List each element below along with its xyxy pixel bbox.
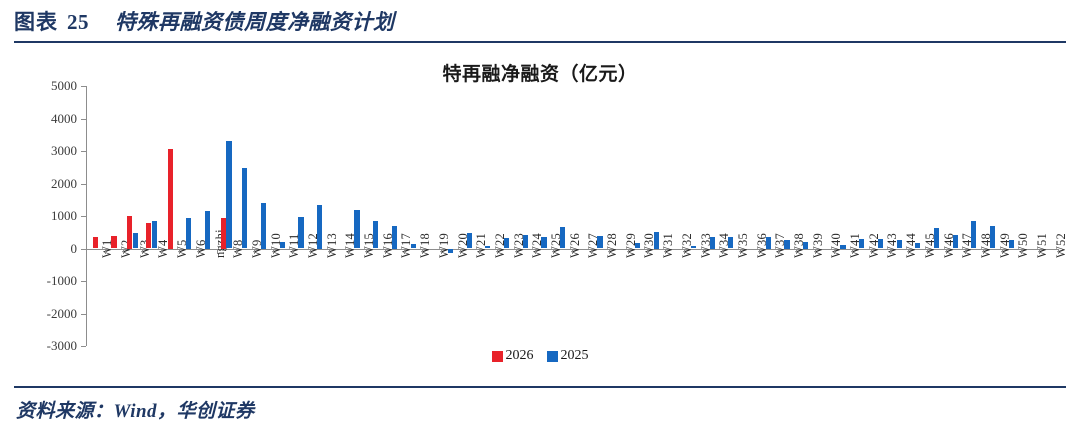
x-axis-tick [516,249,517,254]
x-axis-tick [983,249,984,254]
x-axis-tick [796,249,797,254]
bar-2025 [280,242,285,248]
y-axis-tick-label: 1000 [51,208,77,224]
x-axis-label: W51 [1035,233,1050,258]
x-axis-label: W19 [437,233,452,258]
bar-2025 [467,233,472,248]
bar-2025 [226,141,231,249]
bar-2025 [186,218,191,249]
x-axis-tick [553,249,554,254]
bar-2025 [448,249,453,253]
bar-2025 [654,232,659,248]
bar-2025 [803,242,808,249]
bar-2025 [859,239,864,248]
chart-legend: 20262025 [14,348,1066,364]
bar-2025 [317,205,322,249]
y-axis-line [86,86,87,346]
bar-2025 [242,168,247,249]
bar-2025 [152,221,157,248]
x-axis-tick [871,249,872,254]
figure-header: 图表 25 特殊再融资债周度净融资计划 [0,0,1080,48]
y-axis-tick-label: 3000 [51,143,77,159]
chart-container: 特再融净融资（亿元） 500040003000200010000-1000-20… [14,50,1066,382]
x-axis-tick [852,249,853,254]
bar-2025 [523,235,528,249]
x-axis-tick [834,249,835,254]
x-axis-tick [105,249,106,254]
y-axis-tick-label: 5000 [51,78,77,94]
y-axis-tick [81,184,86,185]
source-note: 资料来源：Wind，华创证券 [16,396,255,423]
x-axis-tick [572,249,573,254]
x-axis-tick [778,249,779,254]
y-axis-tick-label: -2000 [47,306,77,322]
bar-2025 [541,237,546,248]
bar-2025 [597,236,602,249]
x-axis-tick [1021,249,1022,254]
x-axis-tick [927,249,928,254]
bar-2026 [93,237,98,248]
x-axis-tick [310,249,311,254]
x-axis-tick [273,249,274,254]
bar-2025 [897,240,902,249]
y-axis-tick [81,151,86,152]
bar-2026 [146,223,151,249]
x-axis-tick [329,249,330,254]
bar-2025 [934,228,939,249]
x-axis-tick [908,249,909,254]
x-axis-tick [161,249,162,254]
x-axis-tick [217,249,218,254]
x-axis-label: W13 [325,233,340,258]
bar-2025 [766,237,771,248]
bar-2026 [168,149,173,248]
x-axis-tick [684,249,685,254]
x-axis-tick [348,249,349,254]
bar-2026 [127,216,132,249]
bar-2025 [1009,240,1014,248]
bar-2026 [221,218,226,249]
x-axis-tick [890,249,891,254]
x-axis-tick [292,249,293,254]
page-title: 特殊再融资债周度净融资计划 [115,6,395,36]
bar-2025 [205,211,210,248]
bar-2025 [504,238,509,249]
bar-2025 [261,203,266,249]
x-axis-tick [1058,249,1059,254]
x-axis-tick [1039,249,1040,254]
legend-swatch [547,351,558,362]
x-axis-tick [535,249,536,254]
y-axis-tick-label: 0 [71,241,78,257]
bar-2025 [710,237,715,248]
bar-2025 [728,237,733,249]
bar-2025 [411,244,416,248]
x-axis-tick [497,249,498,254]
x-axis-tick [1002,249,1003,254]
bar-2025 [298,217,303,248]
bar-2025 [392,226,397,249]
y-axis-tick [81,346,86,347]
y-axis-tick [81,314,86,315]
footer-divider [14,386,1066,388]
x-axis-tick [404,249,405,254]
x-axis-tick [86,249,87,254]
x-axis-tick [647,249,648,254]
x-axis-tick [609,249,610,254]
bar-2025 [840,245,845,248]
bar-2025 [971,221,976,248]
x-axis-tick [366,249,367,254]
x-axis-label: W28 [605,233,620,258]
x-axis-tick [703,249,704,254]
x-axis-label: W31 [661,233,676,258]
x-axis-tick [254,249,255,254]
x-axis-tick [198,249,199,254]
x-axis-label: W26 [568,233,583,258]
x-axis-tick [759,249,760,254]
x-axis-tick [179,249,180,254]
x-axis-tick [591,249,592,254]
x-axis-label: W35 [736,233,751,258]
bar-2025 [990,226,995,248]
x-axis-tick [665,249,666,254]
x-axis-label: W39 [811,233,826,258]
bar-2025 [560,227,565,248]
x-axis-tick [722,249,723,254]
x-axis-tick [422,249,423,254]
bar-2025 [635,243,640,249]
x-axis-tick [385,249,386,254]
x-axis-tick [479,249,480,254]
x-axis-tick [815,249,816,254]
bar-2025 [485,246,490,249]
bar-2025 [133,233,138,249]
bar-2025 [784,240,789,248]
legend-swatch [492,351,503,362]
x-axis-label: W18 [418,233,433,258]
bar-2025 [354,210,359,248]
x-axis-tick [236,249,237,254]
x-axis-tick [740,249,741,254]
x-axis-tick [123,249,124,254]
x-axis-tick [142,249,143,254]
bar-2026 [111,236,116,249]
bar-2025 [691,246,696,249]
bar-2025 [373,221,378,249]
bar-2025 [915,243,920,249]
figure-title-row: 图表 25 特殊再融资债周度净融资计划 [14,6,395,36]
bar-2025 [953,235,958,249]
y-axis-tick [81,216,86,217]
figure-label: 图表 [14,6,58,36]
header-divider [14,41,1066,43]
legend-label: 2025 [561,348,589,364]
legend-label: 2026 [506,348,534,364]
legend-item[interactable]: 2025 [547,348,589,364]
x-axis-label: W52 [1054,233,1069,258]
x-axis-tick [460,249,461,254]
x-axis-tick [628,249,629,254]
y-axis-tick [81,119,86,120]
y-axis-tick-label: 2000 [51,176,77,192]
y-axis-tick-label: 4000 [51,111,77,127]
figure-number: 25 [67,10,89,35]
bar-2025 [878,239,883,248]
legend-item[interactable]: 2026 [492,348,534,364]
y-axis-tick [81,281,86,282]
chart-title: 特再融净融资（亿元） [14,59,1066,86]
chart-plot-area: 500040003000200010000-1000-2000-3000W1W2… [86,86,1058,346]
x-axis-label: W50 [1016,233,1031,258]
x-axis-tick [965,249,966,254]
x-axis-tick [441,249,442,254]
y-axis-tick-label: -1000 [47,273,77,289]
x-axis-tick [946,249,947,254]
y-axis-tick [81,86,86,87]
